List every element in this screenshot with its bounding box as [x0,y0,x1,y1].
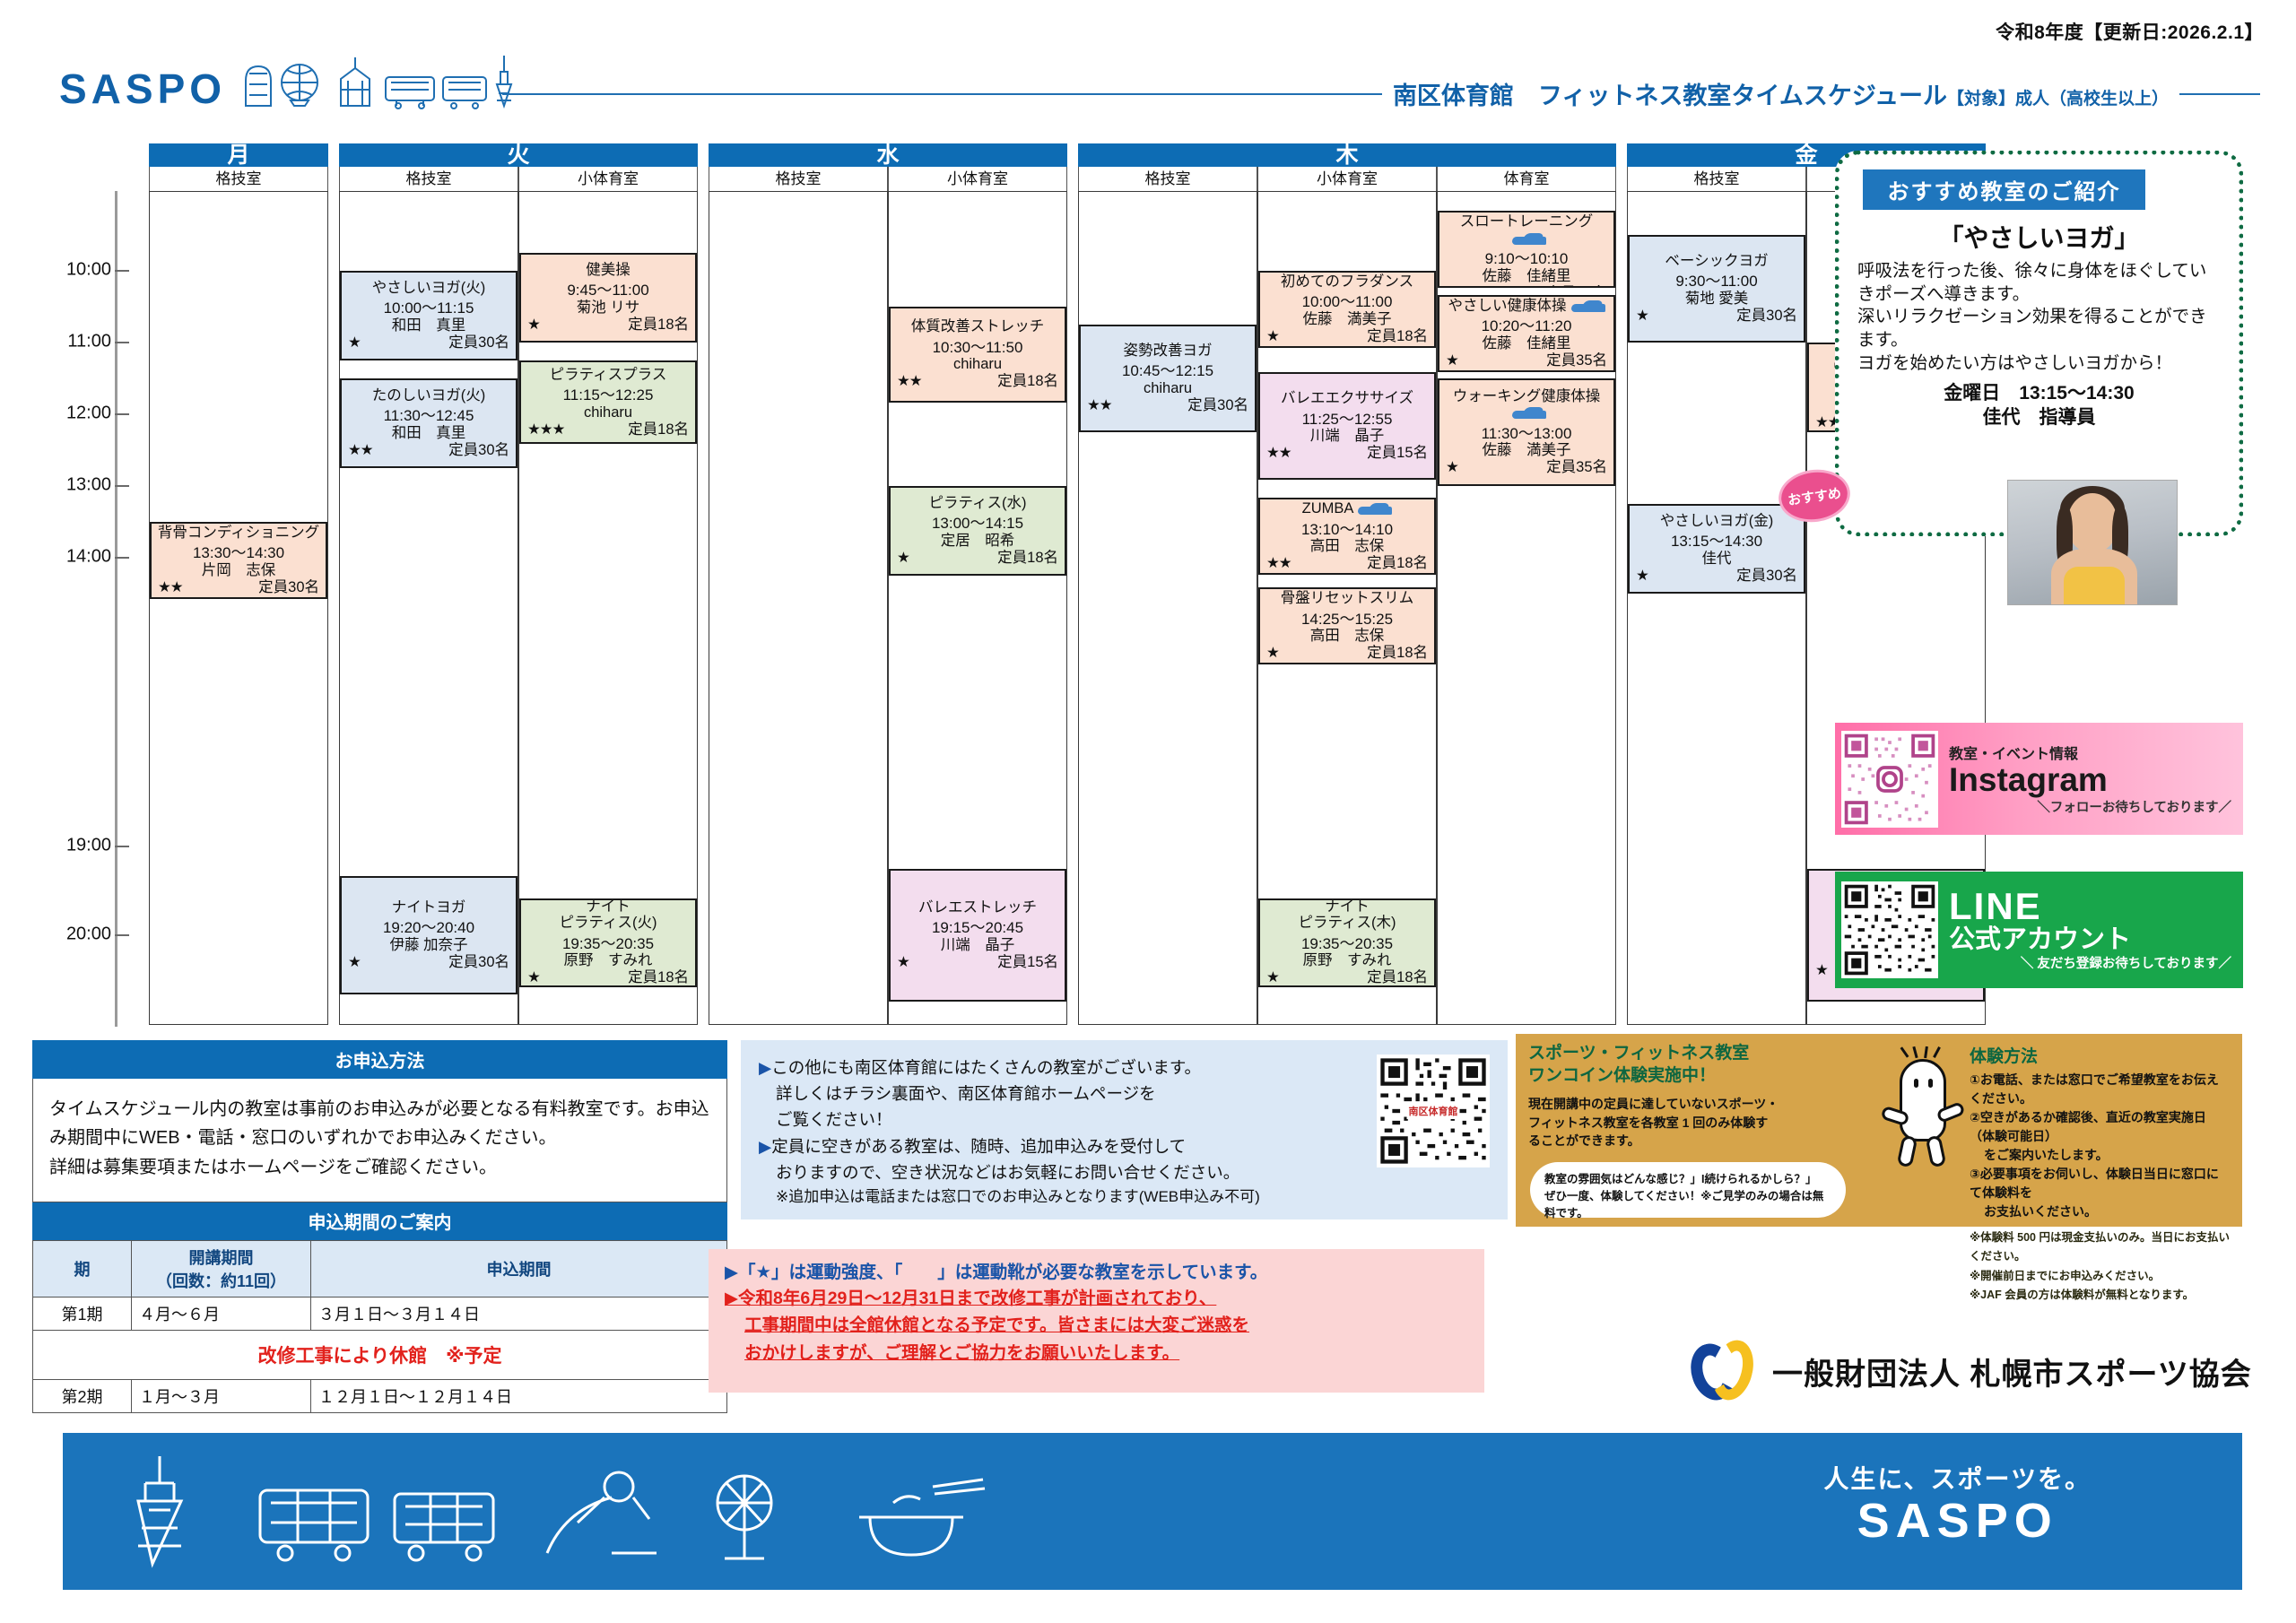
intensity-stars: ★ [1815,962,1828,979]
class-footer: ★定員30名 [1444,285,1609,288]
class-footer: ★★定員30名 [346,442,511,459]
day-body-row: 背骨コンディショニング13:30～14:30片岡 志保★★定員30名 [149,191,328,1025]
recommended-description-line: 深いリラクゼーション効果を得ることができます。 [1857,306,2221,352]
trial-note-3: ※JAF 会員の方は体験料が無料となります。 [1970,1286,2230,1305]
time-axis: 10:0011:0012:0013:0014:0019:0020:00 [32,191,149,1027]
page-header: 令和8年度【更新日:2026.2.1】 SASPO [0,0,2296,135]
additional-info-box: ▶この他にも南区体育館にはたくさんの教室がございます。 詳しくはチラシ裏面や、南… [741,1040,1508,1219]
cell-months-1: ４月～６月 [132,1298,311,1331]
instagram-text: 教室・イベント情報 Instagram ＼フォローお待ちしております／ [1938,742,2237,816]
recommended-description-line: ヨガを始めたい方はやさしいヨガから！ [1857,352,2221,376]
time-label: 20:00 [66,924,111,944]
class-block[interactable]: 姿勢改善ヨガ10:45～12:15chiharu★★定員30名 [1079,325,1257,432]
trial-note-2: ※開催前日までにお申込みください。 [1970,1267,2230,1286]
trial-step-1: ①お電話、または窓口でご希望教室をお伝えください。 [1970,1071,2230,1108]
trial-right-column: 体験方法 ①お電話、または窓口でご希望教室をお伝えください。 ②空きがあるか確認… [1970,1043,2230,1218]
cell-term-2: 第2期 [33,1380,132,1413]
cell-apply-1: ３月１日～３月１４日 [311,1298,727,1331]
recommended-class-schedule: 金曜日 13:15～14:30 佳代 指導員 [1857,381,2221,430]
class-instructor: 和田 真里 [346,425,511,442]
class-block[interactable]: やさしいヨガ(金)13:15～14:30佳代★定員30名 [1628,504,1805,594]
intensity-stars: ★★ [1266,555,1291,572]
mascot-body [1900,1059,1946,1141]
class-footer: ★定員18名 [895,550,1060,567]
notice-legend-line: ▶「★」は運動強度、「 」は運動靴が必要な教室を示しています。 [725,1260,1468,1285]
running-shoe-icon [1571,300,1605,312]
class-instructor: 原野 すみれ [526,952,691,969]
target-tag: 【対象】 [1947,90,2015,108]
footer-tagline: 人生に、スポーツを。 [1823,1460,2092,1496]
table-header-row: 期 開講期間 （回数：約11回） 申込期間 [33,1241,727,1298]
class-time: 14:25～15:25 [1265,612,1430,629]
instagram-card[interactable]: 教室・イベント情報 Instagram ＼フォローお待ちしております／ [1835,723,2243,835]
class-block[interactable]: バレエストレッチ19:15～20:45川端 晶子★定員15名 [889,869,1066,1002]
class-name: ピラティス(水) [895,495,1060,511]
class-time: 11:30～12:45 [346,408,511,425]
day-column-火: 火格技室小体育室やさしいヨガ(火)10:00～11:15和田 真里★定員30名た… [339,143,698,1025]
day-body-row: 体質改善ストレッチ10:30～11:50chiharu★★定員18名ピラティス(… [709,191,1067,1025]
trial-step-2b: をご案内いたします。 [1970,1146,2230,1165]
class-capacity: 定員30名 [448,334,509,352]
trial-notes: ※体験料 500 円は現金支払いのみ。当日にお支払いください。 ※開催前日までに… [1970,1228,2230,1305]
time-tick [115,485,129,487]
class-name: 骨盤リセットスリム [1265,590,1430,606]
trial-title-line1: スポーツ・フィットネス教室 [1528,1043,1878,1065]
line-title: LINE [1949,888,2237,926]
footer-sport-icons [99,1447,1265,1573]
class-time: 9:10～10:10 [1444,251,1609,268]
cell-term-1: 第1期 [33,1298,132,1331]
trial-steps: ①お電話、または窓口でご希望教室をお伝えください。 ②空きがあるか確認後、直近の… [1970,1071,2230,1221]
observatory-icon [717,1476,771,1558]
class-block[interactable]: バレエエクササイズ11:25～12:55川端 晶子★★定員15名 [1258,372,1436,480]
mascot-spark-2 [1912,1046,1918,1058]
class-capacity: 定員30名 [1736,568,1797,585]
class-time: 10:45～12:15 [1085,363,1250,380]
class-instructor: 佐藤 満美子 [1265,311,1430,328]
class-name: ベーシックヨガ [1634,253,1799,269]
class-time: 9:45～11:00 [526,282,691,299]
intensity-stars: ★ [1446,285,1458,288]
info-line-6: ※追加申込は電話または窓口でのお申込みとなります(WEB申込み不可) [759,1185,1364,1210]
info-line-1-text: この他にも南区体育館にはたくさんの教室がございます。 [771,1058,1201,1077]
class-name: バレエエクササイズ [1265,390,1430,406]
line-footnote: ＼ 友だち登録お待ちしております／ [1949,953,2237,972]
class-block[interactable]: 初めてのフラダンス10:00～11:00佐藤 満美子★定員18名 [1258,271,1436,348]
class-footer: ★定員18名 [1265,645,1430,662]
class-time: 13:00～14:15 [895,516,1060,533]
class-capacity: 定員30名 [258,579,319,596]
bus-icon [395,1494,493,1560]
class-capacity: 定員18名 [628,421,689,438]
class-time: 10:20～11:20 [1444,318,1609,335]
class-block[interactable]: たのしいヨガ(火)11:30～12:45和田 真里★★定員30名 [340,378,517,468]
trial-bubble-line1: 教室の雰囲気はどんな感じ？」I続けられるかしら？」 [1544,1171,1831,1188]
photo-head [2067,493,2118,552]
page-title: 南区体育館 フィットネス教室タイムスケジュール【対象】成人（高校生以上） [1393,76,2169,111]
room-lane-小体育室: 初めてのフラダンス10:00～11:00佐藤 満美子★定員18名バレエエクササイ… [1257,191,1437,1025]
class-instructor: chiharu [895,356,1060,373]
class-block[interactable]: 背骨コンディショニング13:30～14:30片岡 志保★★定員30名 [150,522,327,599]
mascot-eye-right [1928,1079,1933,1088]
intensity-stars: ★ [348,334,361,352]
intensity-stars: ★ [527,969,540,986]
line-subtitle: 公式アカウント [1949,926,2237,953]
trial-title: スポーツ・フィットネス教室 ワンコイン体験実施中！ [1528,1043,1878,1087]
room-label-小体育室: 小体育室 [1257,167,1437,191]
trial-body-line1: 現在開講中の定員に達していないスポーツ・ [1528,1095,1878,1113]
class-instructor: 高田 志保 [1265,538,1430,555]
class-instructor: 佐藤 佳緒里 [1444,268,1609,285]
application-method-text: タイムスケジュール内の教室は事前のお申込みが必要となる有料教室です。お申込み期間… [32,1079,727,1202]
recommended-class-panel: おすすめ教室のご紹介 「やさしいヨガ」 呼吸法を行った後、徐々に身体をほぐしてい… [1835,151,2243,536]
class-instructor: 高田 志保 [1265,628,1430,645]
intensity-stars: ★ [1446,459,1458,476]
application-text-line: タイムスケジュール内の教室は事前のお申込みが必要となる有料教室です。お申込み期間… [49,1095,710,1153]
closure-note: 改修工事により休館 ※予定 [33,1331,727,1380]
intensity-stars: ★ [1446,352,1458,369]
time-tick [115,270,129,272]
class-footer: ★定員18名 [526,969,691,986]
class-name: ピラティスプラス [526,367,691,383]
class-block[interactable]: ピラティスプラス11:15～12:25chiharu★★★定員18名 [519,360,697,444]
room-label-格技室: 格技室 [1627,167,1806,191]
ramen-icon [859,1480,985,1555]
day-header-水: 水 [709,143,1067,167]
instagram-qr-code[interactable] [1841,731,1938,828]
class-instructor: 川端 晶子 [1265,428,1430,445]
class-capacity: 定員35名 [1546,459,1607,476]
trial-step-3: ③必要事項をお伺いし、体験日当日に窓口にて体験料を [1970,1165,2230,1202]
table-row: 第2期 １月～３月 １２月１日～１２月１４日 [33,1380,727,1413]
line-card[interactable]: LINE 公式アカウント ＼ 友だち登録お待ちしております／ [1835,872,2243,988]
class-instructor: 定居 昭希 [895,533,1060,550]
class-capacity: 定員18名 [1367,555,1428,572]
class-footer: ★定員35名 [1444,459,1609,476]
class-footer: ★★定員30名 [156,579,321,596]
class-capacity: 定員35名 [1546,352,1607,369]
class-block[interactable]: ナイトヨガ19:20～20:40伊藤 加奈子★定員30名 [340,876,517,994]
application-method-box: お申込方法 タイムスケジュール内の教室は事前のお申込みが必要となる有料教室です。… [32,1040,727,1413]
class-time: 13:15～14:30 [1634,534,1799,551]
column-months: 開講期間 （回数：約11回） [132,1241,311,1298]
page-title-text: 南区体育館 フィットネス教室タイムスケジュール [1393,82,1947,109]
trial-body: 現在開講中の定員に達していないスポーツ・ フィットネス教室を各教室 1 回のみ体… [1528,1095,1878,1150]
time-label: 12:00 [66,404,111,424]
title-rule-right [2179,93,2260,95]
day-header-火: 火 [339,143,698,167]
class-capacity: 定員30名 [1187,397,1248,414]
class-block[interactable]: やさしい健康体操10:20～11:20佐藤 佳緒里★定員35名 [1438,295,1615,372]
trial-left-column: スポーツ・フィットネス教室 ワンコイン体験実施中！ 現在開講中の定員に達していな… [1528,1043,1878,1218]
room-header-row: 格技室 [149,167,328,191]
class-capacity: 定員18名 [1367,645,1428,662]
room-lane-小体育室: 体質改善ストレッチ10:30～11:50chiharu★★定員18名ピラティス(… [888,191,1067,1025]
class-block[interactable]: 健美操9:45～11:00菊池 リサ★定員18名 [519,253,697,343]
notice-box: ▶「★」は運動強度、「 」は運動靴が必要な教室を示しています。 ▶令和8年6月2… [709,1249,1484,1393]
room-lane-格技室: 姿勢改善ヨガ10:45～12:15chiharu★★定員30名 [1078,191,1257,1025]
intensity-stars: ★★★ [527,421,564,438]
class-block[interactable]: ベーシックヨガ9:30～11:00菊地 愛美★定員30名 [1628,235,1805,343]
intensity-stars: ★ [897,550,909,567]
time-label: 14:00 [66,547,111,568]
intensity-stars: ★★ [1266,445,1291,462]
info-line-5: おりますので、空き状況などはお気軽にお問い合せください。 [759,1159,1364,1185]
footer-tagline-block: 人生に、スポーツを。 SASPO [1823,1460,2092,1547]
application-method-heading: お申込方法 [32,1040,727,1079]
info-line-1: ▶この他にも南区体育館にはたくさんの教室がございます。 [759,1055,1364,1081]
day-column-木: 木格技室小体育室体育室姿勢改善ヨガ10:45～12:15chiharu★★定員3… [1078,143,1616,1025]
notice-renovation-line2: 工事期間中は全館休館となる予定です。皆さまには大変ご迷惑を [725,1312,1468,1339]
class-footer: ★★定員18名 [1265,555,1430,572]
bullet-triangle-icon: ▶ [759,1058,771,1077]
application-period-table: 期 開講期間 （回数：約11回） 申込期間 第1期 ４月～６月 ３月１日～３月１… [32,1240,727,1413]
tower-icon [138,1456,181,1564]
room-label-格技室: 格技室 [339,167,518,191]
column-months-line2: （回数：約11回） [139,1269,303,1292]
room-header-row: 格技室小体育室 [339,167,698,191]
class-capacity: 定員18名 [1367,328,1428,345]
class-time: 19:35～20:35 [526,936,691,953]
class-capacity: 定員18名 [997,550,1058,567]
time-label: 10:00 [66,260,111,281]
trial-program-box: スポーツ・フィットネス教室 ワンコイン体験実施中！ 現在開講中の定員に達していな… [1516,1034,2242,1227]
trial-step-2: ②空きがあるか確認後、直近の教室実施日（体験可能日） [1970,1108,2230,1146]
target-value: 成人（高校生以上） [2015,90,2169,108]
time-tick [115,413,129,415]
room-label-体育室: 体育室 [1437,167,1616,191]
trial-step-3b: お支払いください。 [1970,1202,2230,1221]
class-name: やさしいヨガ(金) [1634,513,1799,529]
intensity-stars: ★ [1266,328,1279,345]
recommended-panel-heading: おすすめ教室のご紹介 [1863,169,2145,210]
class-time: 11:25～12:55 [1265,412,1430,429]
line-text: LINE 公式アカウント ＼ 友だち登録お待ちしております／ [1938,888,2237,972]
notice-renovation-line3: おかけしますが、ご理解とご協力をお願いいたします。 [725,1340,1468,1367]
class-capacity: 定員30名 [448,442,509,459]
trial-bubble-line2: ぜひ一度、体験してください！※ご見学のみの場合は無料です。 [1544,1188,1831,1222]
trial-speech-bubble: 教室の雰囲気はどんな感じ？」I続けられるかしら？」 ぜひ一度、体験してください！… [1530,1162,1846,1218]
class-footer: ★定員30名 [1634,308,1799,325]
room-lane-格技室: やさしいヨガ(火)10:00～11:15和田 真里★定員30名たのしいヨガ(火)… [339,191,518,1025]
class-block[interactable]: やさしいヨガ(火)10:00～11:15和田 真里★定員30名 [340,271,517,360]
class-instructor: 川端 晶子 [895,937,1060,954]
class-instructor: 菊池 リサ [526,299,691,317]
class-block[interactable]: ピラティス(水)13:00～14:15定居 昭希★定員18名 [889,486,1066,576]
saspo-logo: SASPO [59,54,531,109]
class-capacity: 定員15名 [1367,445,1428,462]
info-line-3: ご覧ください！ [759,1107,1364,1133]
class-instructor: 片岡 志保 [156,562,321,579]
gym-qr-label: 南区体育館 [1407,1103,1460,1119]
footer-brand: SASPO [1823,1496,2092,1547]
organization-logo: 一般財団法人 札幌市スポーツ協会 [1692,1338,2252,1404]
recommended-schedule-line2: 佳代 指導員 [1857,405,2221,430]
trial-body-line2: フィットネス教室を各教室 1 回のみ体験す [1528,1114,1878,1132]
time-label: 11:00 [67,332,111,352]
room-lane-体育室: りらっくすスロートレーニング9:10～10:10佐藤 佳緒里★定員30名やさしい… [1437,191,1616,1025]
gym-qr-code[interactable]: 南区体育館 [1377,1055,1490,1167]
class-footer: ★★定員15名 [1265,445,1430,462]
notice-renovation-line1: ▶令和8年6月29日～12月31日まで改修工事が計画されており、 [725,1285,1468,1312]
class-instructor: 原野 すみれ [1265,952,1430,969]
class-time: 13:10～14:10 [1265,522,1430,539]
intensity-stars: ★ [1636,568,1648,585]
instagram-footnote: ＼フォローお待ちしております／ [1949,797,2237,816]
running-shoe-icon [1512,407,1546,419]
class-instructor: 佳代 [1634,551,1799,568]
trial-body-line3: ることができます。 [1528,1132,1878,1150]
class-footer: ★★★定員18名 [526,421,691,438]
class-footer: ★定員15名 [895,954,1060,971]
intensity-stars: ★★ [158,579,183,596]
org-mark-icon [1692,1338,1758,1404]
class-footer: ★★定員30名 [1085,397,1250,414]
line-qr-code[interactable] [1841,881,1938,978]
time-tick [115,846,129,847]
footer-banner: 人生に、スポーツを。 SASPO [63,1433,2242,1590]
class-capacity: 定員30名 [1736,308,1797,325]
notice-legend-text: 「★」は運動強度、「 」は運動靴が必要な教室を示しています。 [738,1263,1267,1282]
class-name: ナイトピラティス(火) [526,898,691,932]
mascot-spark-4 [1933,1046,1941,1058]
class-capacity: 定員30名 [448,954,509,971]
instagram-title: Instagram [1949,763,2237,797]
day-header-木: 木 [1078,143,1616,167]
class-name: ウォーキング健康体操 [1444,388,1609,421]
class-time: 11:30～13:00 [1444,426,1609,443]
class-name: ナイトピラティス(木) [1265,898,1430,932]
class-time: 10:30～11:50 [895,340,1060,357]
class-time: 11:15～12:25 [526,387,691,404]
class-time: 10:00～11:00 [1265,294,1430,311]
saspo-wordmark: SASPO [59,68,226,109]
class-name: 姿勢改善ヨガ [1085,343,1250,359]
schedule-grid: 10:0011:0012:0013:0014:0019:0020:00 おすすめ… [32,143,1795,1027]
class-name: ZUMBA [1265,500,1430,516]
class-time: 19:15～20:45 [895,920,1060,937]
class-block[interactable]: ナイトピラティス(火)19:35～20:35原野 すみれ★定員18名 [519,898,697,987]
day-column-水: 水格技室小体育室体質改善ストレッチ10:30～11:50chiharu★★定員1… [709,143,1067,1025]
class-footer: ★定員18名 [1265,969,1430,986]
day-body-row: やさしいヨガ(火)10:00～11:15和田 真里★定員30名たのしいヨガ(火)… [339,191,698,1025]
info-line-4-text: 定員に空きがある教室は、随時、追加申込みを受付して [771,1137,1186,1156]
class-block[interactable]: ナイトピラティス(木)19:35～20:35原野 すみれ★定員18名 [1258,898,1436,987]
time-tick [115,934,129,936]
class-name: ナイトヨガ [346,899,511,916]
class-instructor: 佐藤 佳緒里 [1444,335,1609,352]
title-rule-left [502,93,1382,95]
class-time: 9:30～11:00 [1634,273,1799,291]
class-name: 背骨コンディショニング [156,525,321,541]
class-name: 初めてのフラダンス [1265,273,1430,290]
class-block[interactable]: りらっくすスロートレーニング9:10～10:10佐藤 佳緒里★定員30名 [1438,211,1615,288]
room-label-小体育室: 小体育室 [888,167,1067,191]
tram-icon [260,1490,368,1560]
class-instructor: 菊地 愛美 [1634,291,1799,308]
class-block[interactable]: 体質改善ストレッチ10:30～11:50chiharu★★定員18名 [889,307,1066,403]
class-footer: ★定員30名 [346,334,511,352]
mascot-character-icon [1885,1043,1962,1218]
additional-info-lines: ▶この他にも南区体育館にはたくさんの教室がございます。 詳しくはチラシ裏面や、南… [759,1055,1364,1205]
recommended-schedule-line1: 金曜日 13:15～14:30 [1857,381,2221,405]
room-lane-小体育室: 健美操9:45～11:00菊池 リサ★定員18名ピラティスプラス11:15～12… [518,191,698,1025]
class-instructor: 佐藤 満美子 [1444,442,1609,459]
bullet-triangle-icon-2: ▶ [759,1137,771,1156]
room-lane-格技室: ベーシックヨガ9:30～11:00菊地 愛美★定員30名やさしいヨガ(金)13:… [1627,191,1806,1025]
class-capacity: 定員18名 [1367,969,1428,986]
time-label: 19:00 [66,835,111,855]
class-instructor: chiharu [1085,380,1250,397]
cell-apply-2: １２月１日～１２月１４日 [311,1380,727,1413]
class-name: やさしい健康体操 [1444,298,1609,314]
day-column-月: 月格技室背骨コンディショニング13:30～14:30片岡 志保★★定員30名 [149,143,328,1025]
time-tick [115,342,129,343]
class-name: たのしいヨガ(火) [346,387,511,404]
class-capacity: 定員18名 [997,373,1058,390]
class-block[interactable]: ウォーキング健康体操11:30～13:00佐藤 満美子★定員35名 [1438,378,1615,486]
recommended-class-title: 「やさしいヨガ」 [1857,219,2221,255]
intensity-stars: ★ [1266,645,1279,662]
intensity-stars: ★ [1266,969,1279,986]
class-footer: ★定員18名 [526,317,691,334]
class-footer: ★★定員18名 [895,373,1060,390]
table-row-closure: 改修工事により休館 ※予定 [33,1331,727,1380]
time-label: 13:00 [66,475,111,496]
class-block[interactable]: ZUMBA13:10～14:10高田 志保★★定員18名 [1258,498,1436,575]
mascot-spark-3 [1924,1046,1928,1058]
class-capacity: 定員30名 [1546,285,1607,288]
class-block[interactable]: 骨盤リセットスリム14:25～15:25高田 志保★定員18名 [1258,587,1436,664]
organization-name: 一般財団法人 札幌市スポーツ協会 [1772,1350,2252,1393]
column-months-line1: 開講期間 [139,1245,303,1269]
class-time: 19:35～20:35 [1265,936,1430,953]
trial-title-line2: ワンコイン体験実施中！ [1528,1065,1878,1088]
ski-jump-icon [547,1472,657,1553]
intensity-stars: ★★ [897,373,922,390]
title-bar: 南区体育館 フィットネス教室タイムスケジュール【対象】成人（高校生以上） [502,76,2260,111]
mascot-leg-left [1897,1135,1918,1168]
cell-months-2: １月～３月 [132,1380,311,1413]
recommended-description-line: 呼吸法を行った後、徐々に身体をほぐしていきポーズへ導きます。 [1857,260,2221,306]
class-footer: ★定員18名 [1265,328,1430,345]
class-name: バレエストレッチ [895,899,1060,916]
notice-renovation-text1: 令和8年6月29日～12月31日まで改修工事が計画されており、 [738,1289,1216,1308]
info-line-4: ▶定員に空きがある教室は、随時、追加申込みを受付して [759,1133,1364,1159]
room-label-格技室: 格技室 [1078,167,1257,191]
intensity-stars: ★★ [1087,397,1112,414]
column-term: 期 [33,1241,132,1298]
sapporo-cityscape-icon [235,54,531,109]
mascot-spark-1 [1900,1046,1909,1057]
bullet-triangle-icon-4: ▶ [725,1289,738,1308]
trial-note-1: ※体験料 500 円は現金支払いのみ。当日にお支払いください。 [1970,1228,2230,1267]
mascot-eye-left [1914,1079,1918,1088]
running-shoe-icon [1512,233,1546,245]
class-name: やさしいヨガ(火) [346,280,511,296]
instagram-subtitle: 教室・イベント情報 [1949,742,2237,763]
intensity-stars: ★★ [348,442,373,459]
bullet-triangle-icon-3: ▶ [725,1263,738,1282]
class-time: 19:20～20:40 [346,920,511,937]
class-footer: ★定員30名 [346,954,511,971]
mascot-leg-right [1926,1135,1947,1168]
room-label-格技室: 格技室 [709,167,888,191]
class-time: 10:00～11:15 [346,300,511,317]
class-instructor: chiharu [526,404,691,421]
class-capacity: 定員18名 [628,969,689,986]
update-date: 令和8年度【更新日:2026.2.1】 [1996,18,2264,45]
